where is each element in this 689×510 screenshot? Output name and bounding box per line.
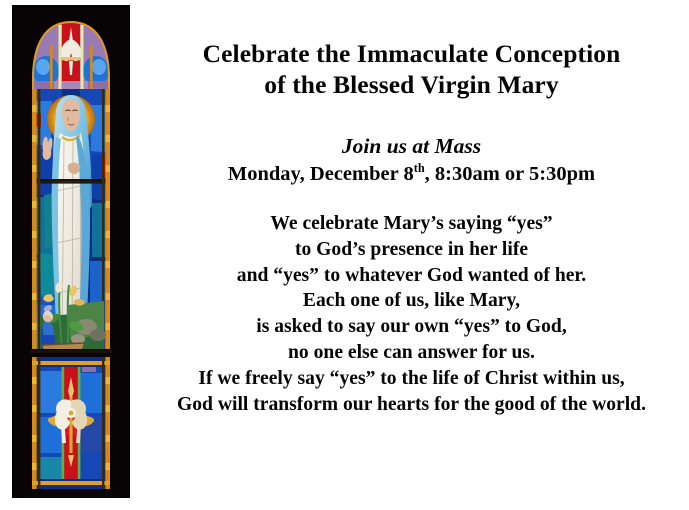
lead-came-band	[30, 350, 112, 353]
reflection-line: God will transform our hearts for the go…	[134, 392, 689, 418]
stained-glass-window-photo	[12, 5, 130, 498]
flyer-page: Celebrate the Immaculate Conception of t…	[0, 0, 689, 510]
headline-line-1: Celebrate the Immaculate Conception	[134, 38, 689, 69]
reflection-line: Each one of us, like Mary,	[134, 288, 689, 314]
window-sill	[12, 489, 130, 498]
mass-times: , 8:30am or 5:30pm	[425, 163, 595, 185]
window-monogram-panel	[32, 357, 110, 489]
mass-datetime: Monday, December 8th, 8:30am or 5:30pm	[134, 161, 689, 188]
window-mary-panel	[32, 89, 110, 355]
mass-day: Monday, December 8	[228, 163, 414, 185]
reflection-line: to God’s presence in her life	[134, 237, 689, 263]
headline-line-2: of the Blessed Virgin Mary	[134, 69, 689, 100]
mass-invite-text: Join us at Mass	[134, 133, 689, 159]
flyer-text-column: Celebrate the Immaculate Conception of t…	[134, 0, 689, 510]
page-title: Celebrate the Immaculate Conception of t…	[134, 38, 689, 100]
reflection-text: We celebrate Mary’s saying “yes” to God’…	[134, 211, 689, 417]
reflection-line: If we freely say “yes” to the life of Ch…	[134, 366, 689, 392]
mass-day-ordinal-suffix: th	[414, 161, 425, 175]
reflection-line: is asked to say our own “yes” to God,	[134, 314, 689, 340]
stained-glass-illustration	[12, 5, 130, 498]
mass-details: Join us at Mass Monday, December 8th, 8:…	[134, 133, 689, 188]
reflection-line: We celebrate Mary’s saying “yes”	[134, 211, 689, 237]
reflection-line: and “yes” to whatever God wanted of her.	[134, 263, 689, 289]
reflection-line: no one else can answer for us.	[134, 340, 689, 366]
